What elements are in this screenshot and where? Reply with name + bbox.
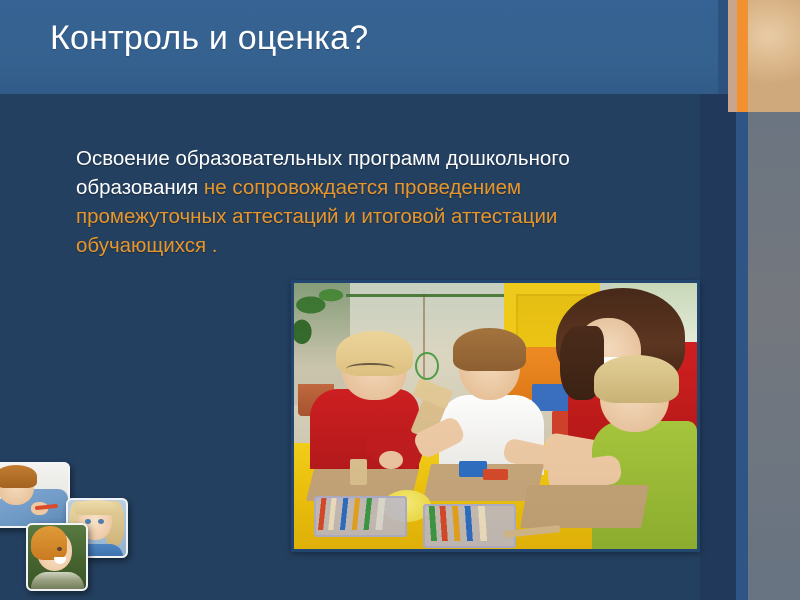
page-title: Контроль и оценка? xyxy=(50,16,368,60)
accent-orange-bar xyxy=(737,0,748,112)
thumb1-hair xyxy=(0,465,37,487)
smiling-child-photo xyxy=(26,523,88,591)
presentation-slide: Контроль и оценка? Освоение образователь… xyxy=(0,0,800,600)
thumb3-shirt xyxy=(31,572,83,590)
thumb2-right-eye xyxy=(98,519,104,524)
slide-body-text: Освоение образовательных программ дошкол… xyxy=(76,144,656,260)
side-strip-blue-rule xyxy=(736,112,748,600)
right-dark-gutter xyxy=(700,94,736,600)
thumb3-hair xyxy=(31,526,67,559)
photo-vignette xyxy=(294,283,697,549)
thumb2-hair-top xyxy=(75,500,117,515)
classroom-craft-activity-photo xyxy=(291,280,700,552)
boy-drawing-photo xyxy=(0,462,70,528)
people-side-strip-photo xyxy=(748,0,800,600)
header-right-blue-block xyxy=(718,0,728,94)
side-strip-blue-tint-overlay xyxy=(748,112,800,600)
